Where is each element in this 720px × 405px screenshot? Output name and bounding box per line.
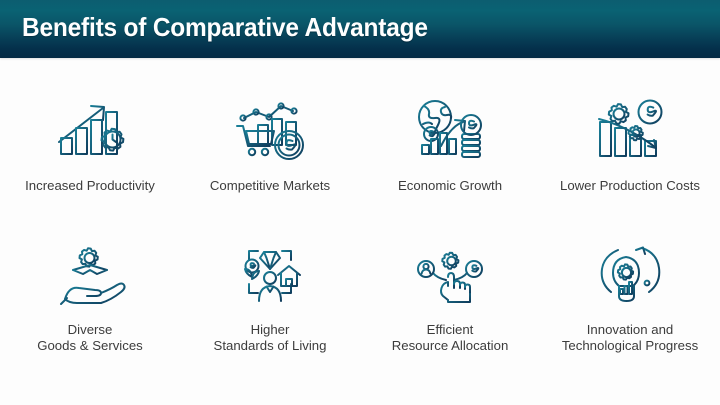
globe-chart-coins-icon	[407, 92, 493, 166]
benefit-label: Efficient Resource Allocation	[392, 322, 509, 354]
benefit-label: Innovation and Technological Progress	[562, 322, 698, 354]
benefit-label: Competitive Markets	[210, 178, 330, 194]
benefit-label: Higher Standards of Living	[214, 322, 327, 354]
benefit-item-higher-standards-of-living[interactable]: Higher Standards of Living	[180, 238, 360, 378]
benefit-item-increased-productivity[interactable]: Increased Productivity	[0, 92, 180, 218]
benefit-label: Increased Productivity	[25, 178, 155, 194]
hand-open-box-gear-icon	[47, 238, 133, 312]
bar-chart-arrow-gear-clock-icon	[47, 92, 133, 166]
slide: Benefits of Comparative Advantage	[0, 0, 720, 405]
benefit-item-lower-production-costs[interactable]: Lower Production Costs	[540, 92, 720, 218]
benefit-label: Lower Production Costs	[560, 178, 700, 194]
page-title: Benefits of Comparative Advantage	[22, 12, 428, 43]
person-diamond-house-plant-icon	[227, 238, 313, 312]
benefit-item-competitive-markets[interactable]: Competitive Markets	[180, 92, 360, 218]
hand-pointer-network-icon	[407, 238, 493, 312]
benefit-item-diverse-goods-services[interactable]: Diverse Goods & Services	[0, 238, 180, 378]
slide-header: Benefits of Comparative Advantage	[0, 0, 720, 58]
shopping-cart-chart-coin-icon	[227, 92, 313, 166]
benefits-grid: Increased Productivity	[0, 58, 720, 405]
benefit-item-economic-growth[interactable]: Economic Growth	[360, 92, 540, 218]
benefit-item-innovation-technological-progress[interactable]: Innovation and Technological Progress	[540, 238, 720, 378]
declining-chart-gears-coin-icon	[587, 92, 673, 166]
benefit-label: Economic Growth	[398, 178, 502, 194]
lightbulb-gear-chart-icon	[587, 238, 673, 312]
benefits-row-2: Diverse Goods & Services	[0, 218, 720, 378]
benefit-label: Diverse Goods & Services	[37, 322, 143, 354]
benefits-row-1: Increased Productivity	[0, 58, 720, 218]
benefit-item-efficient-resource-allocation[interactable]: Efficient Resource Allocation	[360, 238, 540, 378]
